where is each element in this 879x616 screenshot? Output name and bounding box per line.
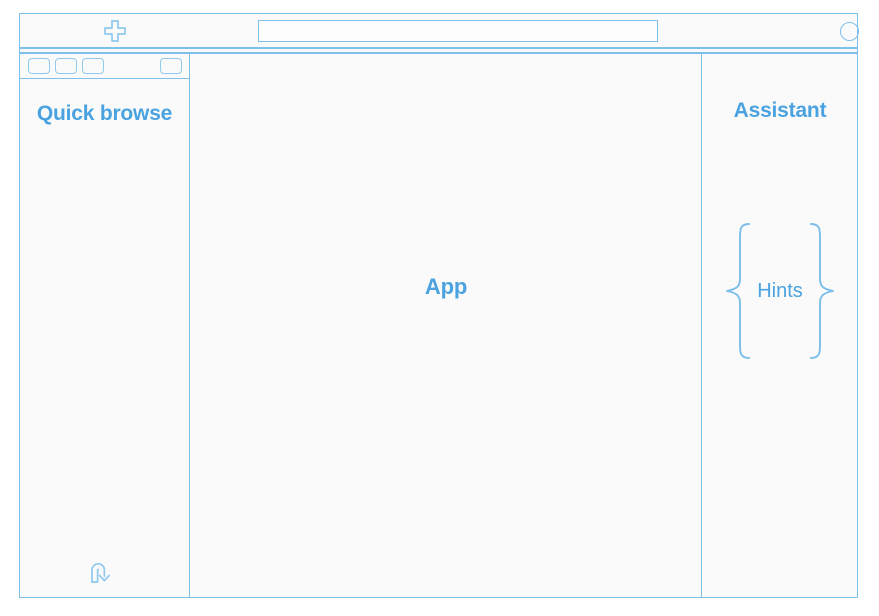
hints-label: Hints — [753, 280, 807, 303]
quick-browse-sidebar[interactable]: Quick browse — [20, 53, 190, 597]
app-window-frame: Quick browse App Assistant — [19, 13, 858, 598]
hints-group: Hints — [703, 216, 857, 366]
assistant-title: Assistant — [703, 99, 857, 123]
header-bar — [20, 14, 857, 47]
left-brace-icon — [723, 221, 753, 361]
sidebar-title: Quick browse — [20, 101, 189, 127]
assistant-panel[interactable]: Assistant Hints — [703, 53, 857, 597]
avatar[interactable] — [840, 22, 859, 41]
plus-icon — [102, 18, 128, 44]
panel-container: Quick browse App Assistant — [20, 53, 857, 597]
wireframe-canvas: Quick browse App Assistant — [0, 0, 879, 616]
u-turn-arrow-icon[interactable] — [86, 558, 116, 586]
header-divider-top — [20, 47, 857, 49]
app-title: App — [425, 274, 467, 300]
app-content-panel[interactable]: App — [191, 53, 702, 597]
right-brace-icon — [807, 221, 837, 361]
add-button[interactable] — [20, 14, 210, 47]
search-input[interactable] — [258, 20, 658, 42]
